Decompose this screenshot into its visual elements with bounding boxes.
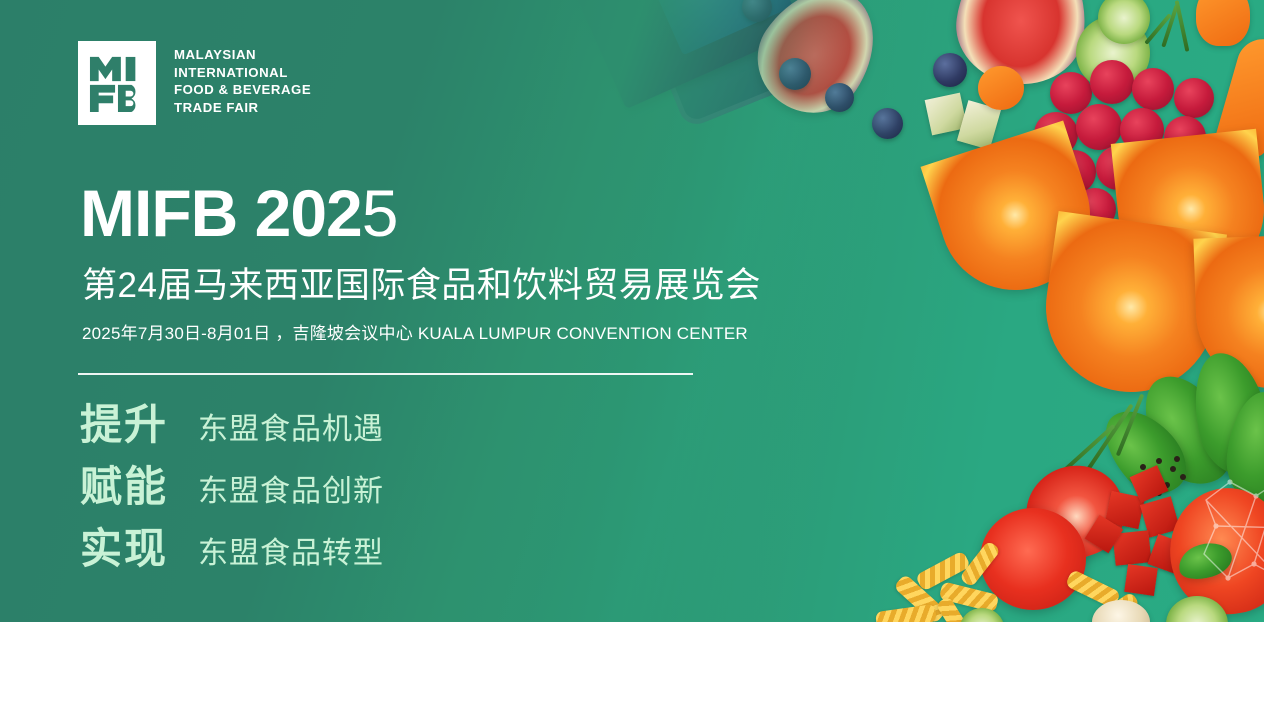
- footer-bar: 主办单位: constellar www.mifb.com.my #MIFB20…: [0, 622, 1264, 707]
- event-title-bold: MIFB 202: [80, 176, 362, 250]
- divider-line: [78, 373, 693, 375]
- blueberry-decor: [872, 108, 903, 139]
- peppercorn-decor: [1174, 456, 1180, 462]
- raspberry-decor: [1132, 68, 1174, 110]
- taglines-list: 提升 东盟食品机遇 赋能 东盟食品创新 实现 东盟食品转型: [80, 394, 384, 580]
- blueberry-decor: [933, 53, 967, 87]
- tagline-value: 东盟食品转型: [198, 523, 384, 585]
- tagline-key: 提升: [80, 394, 198, 456]
- pasta-decor: [875, 604, 937, 622]
- hero-panel: MALAYSIAN INTERNATIONAL FOOD & BEVERAGE …: [0, 0, 1264, 622]
- logo-line-3: FOOD & BEVERAGE: [174, 81, 311, 99]
- peppercorn-decor: [1156, 458, 1162, 464]
- event-title-light: 5: [362, 176, 398, 250]
- blueberry-decor: [779, 58, 811, 90]
- logo-line-4: TRADE FAIR: [174, 99, 311, 117]
- carrot-slice-decor: [978, 66, 1024, 110]
- diced-pepper-decor: [1124, 564, 1158, 596]
- logo-wordmark: MALAYSIAN INTERNATIONAL FOOD & BEVERAGE …: [174, 41, 311, 116]
- tagline-value: 东盟食品创新: [198, 461, 384, 523]
- mifb-monogram-icon: [89, 54, 145, 112]
- tagline-row: 提升 东盟食品机遇: [80, 394, 384, 456]
- event-subtitle: 第24届马来西亚国际食品和饮料贸易展览会: [82, 265, 761, 307]
- parsley-decor: [1175, 0, 1190, 52]
- mushroom-decor: [1092, 600, 1150, 622]
- mifb-logo: MALAYSIAN INTERNATIONAL FOOD & BEVERAGE …: [78, 41, 311, 125]
- tagline-value: 东盟食品机遇: [198, 399, 384, 461]
- raspberry-decor: [1090, 60, 1134, 104]
- blueberry-decor: [825, 83, 854, 112]
- logo-line-1: MALAYSIAN: [174, 46, 311, 64]
- network-graphic-decor: [1196, 470, 1264, 590]
- event-dateline: 2025年7月30日-8月01日 ，吉隆坡会议中心 KUALA LUMPUR C…: [82, 322, 748, 346]
- peppercorn-decor: [1180, 474, 1186, 480]
- logo-mark-box: [78, 41, 156, 125]
- carrot-decor: [1196, 0, 1250, 46]
- tagline-row: 实现 东盟食品转型: [80, 518, 384, 580]
- peppercorn-decor: [1170, 466, 1176, 472]
- event-title: MIFB 2025: [80, 178, 397, 248]
- raspberry-decor: [1174, 78, 1214, 118]
- logo-line-2: INTERNATIONAL: [174, 64, 311, 82]
- tagline-key: 赋能: [80, 456, 198, 518]
- tagline-row: 赋能 东盟食品创新: [80, 456, 384, 518]
- mifb-2025-poster: MALAYSIAN INTERNATIONAL FOOD & BEVERAGE …: [0, 0, 1264, 707]
- tagline-key: 实现: [80, 518, 198, 580]
- cucumber-slice-decor: [960, 608, 1004, 622]
